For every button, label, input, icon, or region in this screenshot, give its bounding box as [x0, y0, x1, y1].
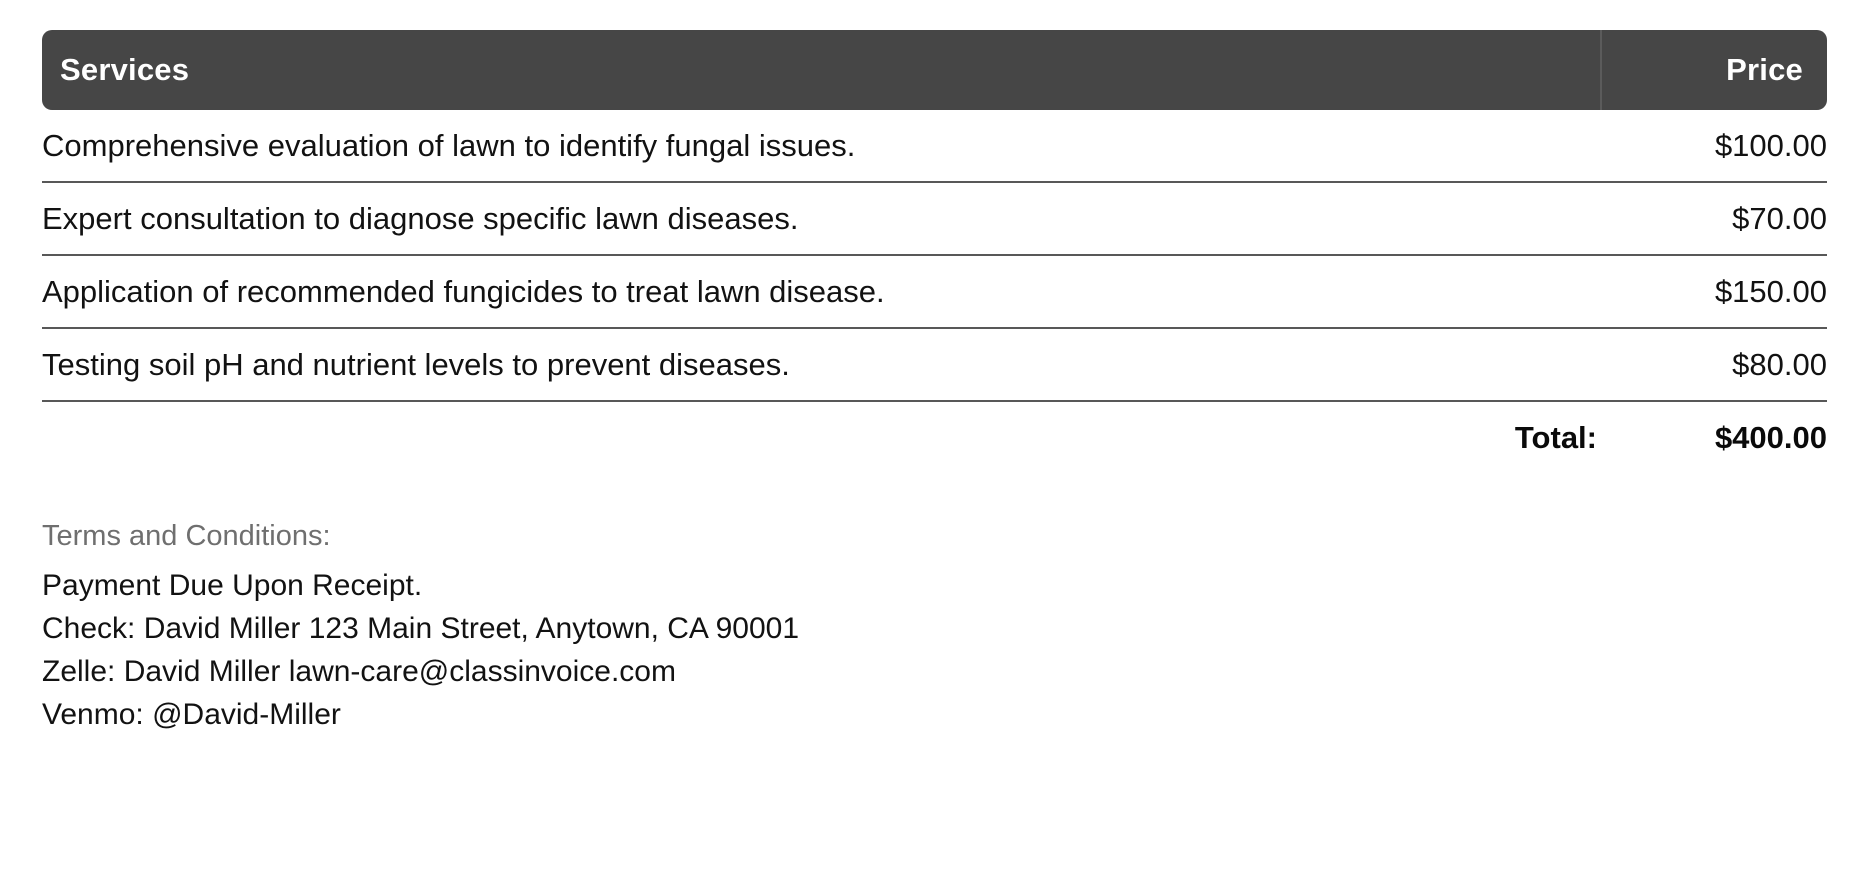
- service-description: Testing soil pH and nutrient levels to p…: [42, 347, 1732, 383]
- invoice-services-section: Services Price Comprehensive evaluation …: [0, 0, 1868, 870]
- terms-title: Terms and Conditions:: [42, 520, 1827, 553]
- table-row: Application of recommended fungicides to…: [42, 256, 1827, 329]
- service-price: $100.00: [1715, 128, 1827, 164]
- total-label: Total:: [1515, 420, 1597, 456]
- table-row: Testing soil pH and nutrient levels to p…: [42, 329, 1827, 402]
- column-header-services: Services: [42, 30, 1602, 110]
- service-price: $80.00: [1732, 347, 1827, 383]
- services-table-header: Services Price: [42, 30, 1827, 110]
- service-price: $70.00: [1732, 201, 1827, 237]
- terms-line-venmo: Venmo: @David-Miller: [42, 698, 1827, 732]
- column-header-price: Price: [1602, 30, 1827, 110]
- service-price: $150.00: [1715, 274, 1827, 310]
- total-value: $400.00: [1597, 420, 1827, 456]
- terms-line-payment: Payment Due Upon Receipt.: [42, 569, 1827, 603]
- total-row: Total: $400.00: [42, 402, 1827, 474]
- table-row: Comprehensive evaluation of lawn to iden…: [42, 110, 1827, 183]
- terms-line-check: Check: David Miller 123 Main Street, Any…: [42, 612, 1827, 646]
- terms-and-conditions: Terms and Conditions: Payment Due Upon R…: [42, 520, 1827, 732]
- service-description: Application of recommended fungicides to…: [42, 274, 1715, 310]
- terms-line-zelle: Zelle: David Miller lawn-care@classinvoi…: [42, 655, 1827, 689]
- table-row: Expert consultation to diagnose specific…: [42, 183, 1827, 256]
- service-description: Comprehensive evaluation of lawn to iden…: [42, 128, 1715, 164]
- service-description: Expert consultation to diagnose specific…: [42, 201, 1732, 237]
